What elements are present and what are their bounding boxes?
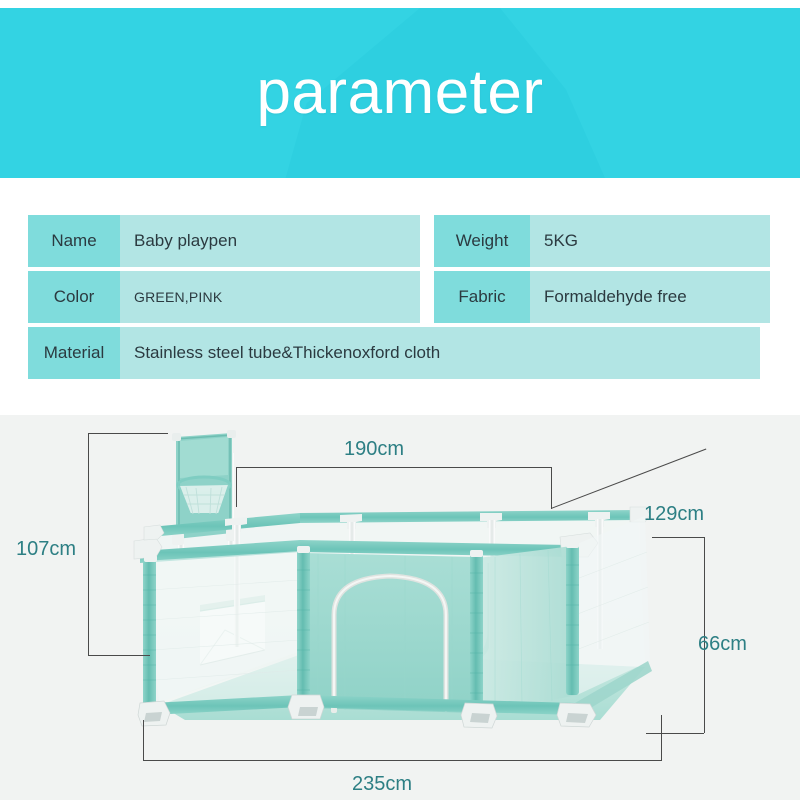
leader-line-side-height-top (652, 537, 704, 538)
leader-line-bottom-width (143, 760, 662, 761)
dimension-label-height: 107cm (16, 538, 76, 561)
leader-line-height (88, 433, 89, 655)
leader-line-bottom-width-right (661, 715, 662, 760)
dimension-label-bottom-width: 235cm (352, 773, 412, 796)
leader-line-top-width (236, 467, 552, 468)
product-spec-page: parameter Name Baby playpen Color GREEN,… (0, 0, 800, 800)
table-row: Weight 5KG (434, 215, 770, 267)
spec-label-material: Material (28, 327, 120, 379)
leader-line-side-height-bottom (646, 733, 704, 734)
spec-value-material: Stainless steel tube&Thickenoxford cloth (120, 327, 760, 379)
leader-line-height-bottom (88, 655, 150, 656)
leader-line-top-width-right (551, 467, 552, 509)
playpen-illustration (0, 415, 800, 800)
product-photo: 107cm 190cm 129cm 66cm 235cm (0, 415, 800, 800)
spec-value-fabric: Formaldehyde free (530, 271, 770, 323)
spec-table: Name Baby playpen Color GREEN,PINK Weigh… (0, 215, 800, 380)
spec-label-name: Name (28, 215, 120, 267)
leader-line-top-width-left (236, 467, 237, 507)
spec-value-name: Baby playpen (120, 215, 420, 267)
table-row: Name Baby playpen (28, 215, 420, 267)
leader-line-bottom-width-left (143, 720, 144, 760)
dimension-label-depth: 129cm (644, 503, 704, 526)
spec-value-color: GREEN,PINK (120, 271, 420, 323)
dimension-label-top-width: 190cm (344, 438, 404, 461)
spec-value-weight: 5KG (530, 215, 770, 267)
page-title: parameter (0, 8, 800, 178)
table-row: Color GREEN,PINK (28, 271, 420, 323)
header-banner: parameter (0, 8, 800, 178)
table-row: Fabric Formaldehyde free (434, 271, 770, 323)
dimension-label-side-height: 66cm (698, 633, 747, 656)
spec-label-color: Color (28, 271, 120, 323)
leader-line-height-top (88, 433, 168, 434)
spec-label-weight: Weight (434, 215, 530, 267)
spec-label-fabric: Fabric (434, 271, 530, 323)
table-row: Material Stainless steel tube&Thickenoxf… (28, 327, 760, 379)
